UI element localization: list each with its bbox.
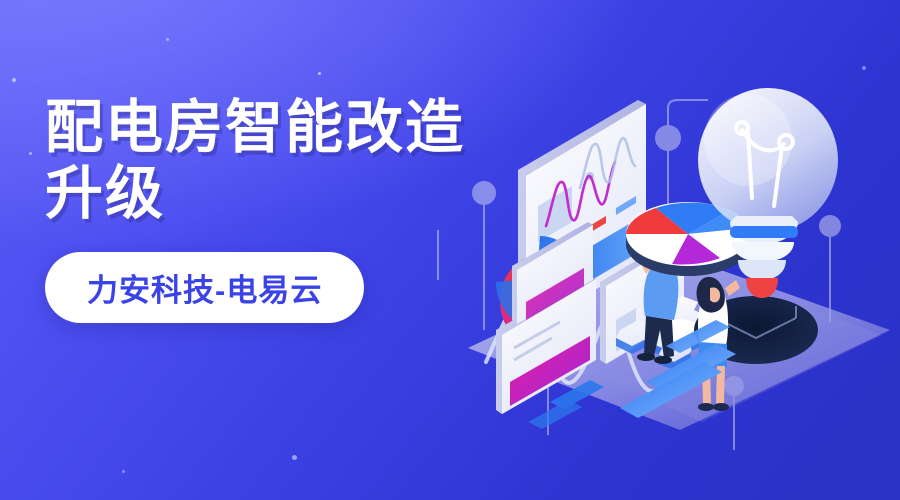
sparkle-dot — [122, 470, 125, 473]
sparkle-dot — [292, 455, 297, 460]
promo-banner: 配电房智能改造 升级 力安科技-电易云 — [0, 0, 900, 500]
sparkle-dot — [318, 72, 321, 75]
sparkle-dot — [12, 78, 16, 82]
sparkle-dot — [166, 38, 169, 41]
headline-block: 配电房智能改造 升级 力安科技-电易云 — [45, 95, 515, 323]
headline-line-1: 配电房智能改造 — [45, 95, 515, 161]
headline-line-2: 升级 — [45, 161, 515, 227]
brand-badge[interactable]: 力安科技-电易云 — [45, 252, 364, 323]
brand-badge-label: 力安科技-电易云 — [87, 265, 322, 310]
sparkle-dot — [29, 152, 32, 155]
